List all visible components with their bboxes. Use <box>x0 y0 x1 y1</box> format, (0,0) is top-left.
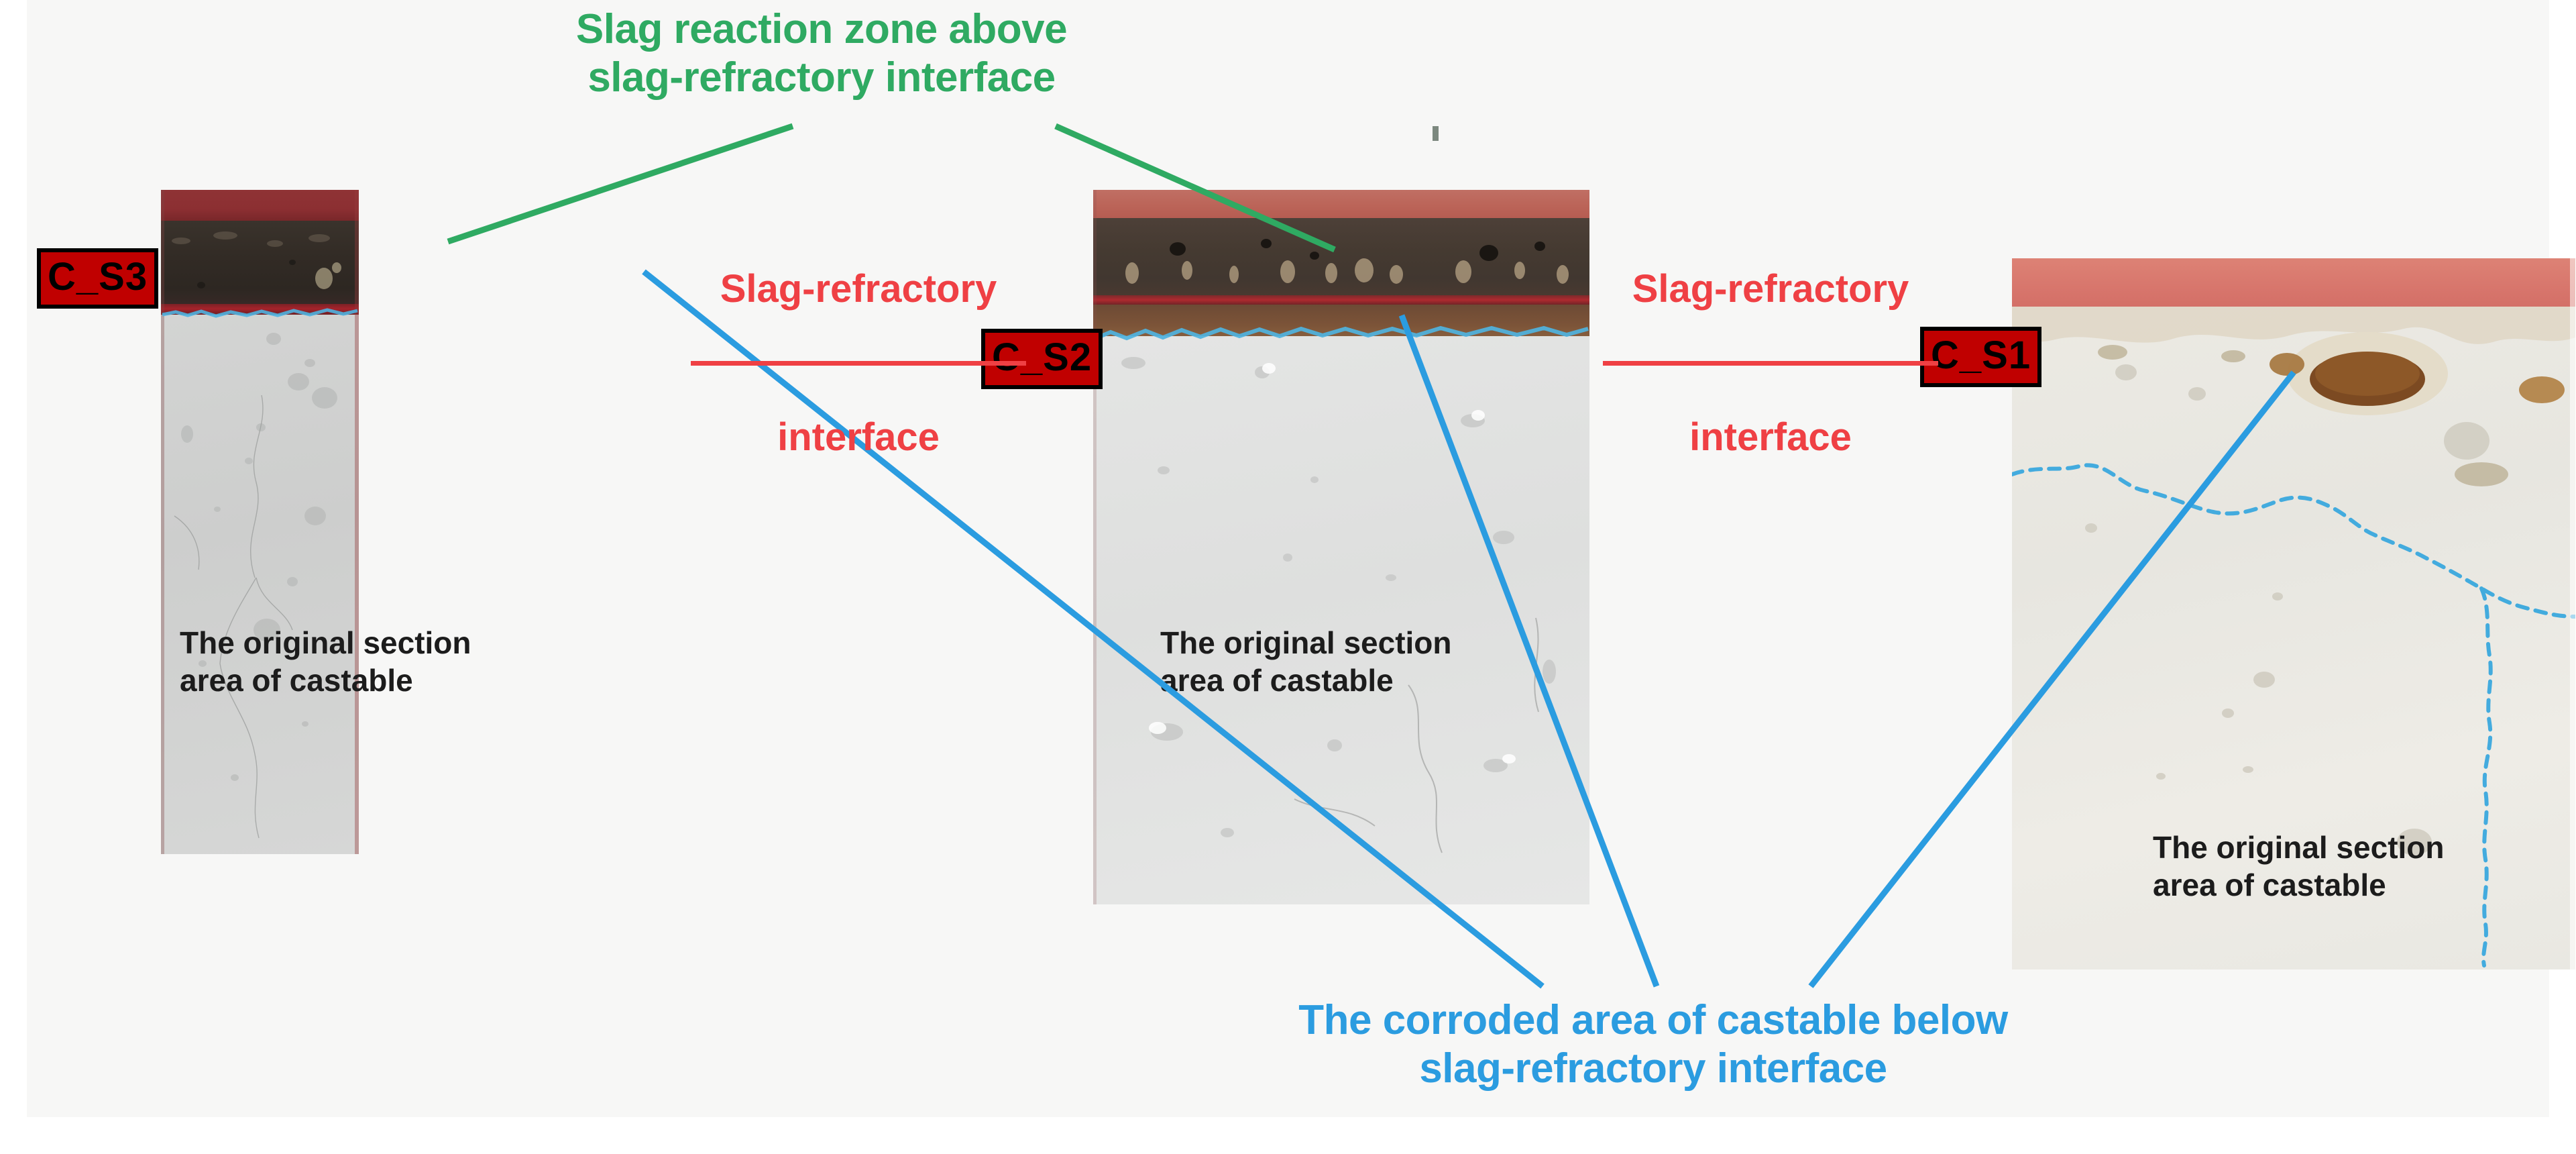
red-annotation-right-line2: interface <box>1603 415 1938 460</box>
leader-line-layer <box>0 0 2576 1154</box>
red-annotation-right-rule <box>1603 361 1938 366</box>
red-annotation-interface-left: Slag-refractory interface <box>691 221 1026 505</box>
red-annotation-left-rule <box>691 361 1026 366</box>
red-annotation-right-line1: Slag-refractory <box>1603 266 1938 311</box>
blue-annotation-corroded-area: The corroded area of castable below slag… <box>1241 996 2066 1093</box>
red-annotation-interface-right: Slag-refractory interface <box>1603 221 1938 505</box>
figure-canvas: The original section area of castable C_… <box>0 0 2576 1154</box>
red-annotation-left-line2: interface <box>691 415 1026 460</box>
green-annotation-slag-reaction-zone: Slag reaction zone above slag-refractory… <box>543 5 1100 102</box>
green-leader-line-right <box>1056 126 1335 250</box>
red-annotation-left-line1: Slag-refractory <box>691 266 1026 311</box>
